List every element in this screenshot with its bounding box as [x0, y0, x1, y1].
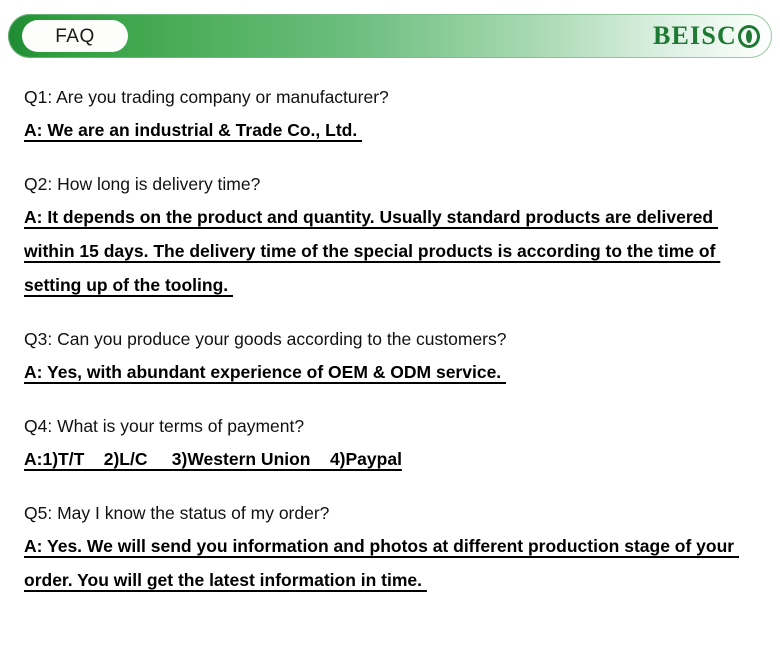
faq-question: Q5: May I know the status of my order?	[24, 498, 764, 529]
faq-answer: A: We are an industrial & Trade Co., Ltd…	[24, 113, 764, 147]
faq-question: Q2: How long is delivery time?	[24, 169, 764, 200]
page-header: FAQ BEISC	[8, 14, 772, 58]
faq-answer: A:1)T/T 2)L/C 3)Western Union 4)Paypal	[24, 442, 764, 476]
faq-item: Q4: What is your terms of payment? A:1)T…	[24, 411, 764, 476]
faq-tab-label: FAQ	[55, 27, 95, 46]
logo-wordmark: BEISC	[653, 23, 737, 49]
logo-ring-o-icon	[738, 25, 760, 48]
faq-item: Q3: Can you produce your goods according…	[24, 324, 764, 389]
faq-tab[interactable]: FAQ	[22, 20, 128, 52]
faq-page: FAQ BEISC Q1: Are you trading company or…	[0, 0, 780, 650]
faq-question: Q3: Can you produce your goods according…	[24, 324, 764, 355]
faq-list: Q1: Are you trading company or manufactu…	[24, 82, 764, 597]
faq-answer: A: Yes, with abundant experience of OEM …	[24, 355, 764, 389]
faq-answer: A: It depends on the product and quantit…	[24, 200, 764, 302]
faq-item: Q1: Are you trading company or manufactu…	[24, 82, 764, 147]
company-logo: BEISC	[653, 21, 760, 51]
faq-answer: A: Yes. We will send you information and…	[24, 529, 764, 597]
logo-ring-inner-dot	[746, 30, 752, 43]
faq-item: Q2: How long is delivery time? A: It dep…	[24, 169, 764, 302]
faq-question: Q1: Are you trading company or manufactu…	[24, 82, 764, 113]
faq-question: Q4: What is your terms of payment?	[24, 411, 764, 442]
faq-item: Q5: May I know the status of my order? A…	[24, 498, 764, 597]
